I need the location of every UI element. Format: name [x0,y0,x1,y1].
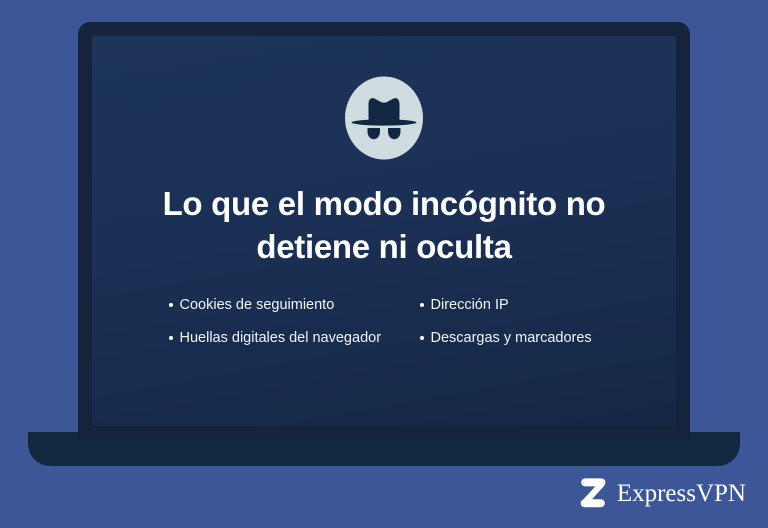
list-item-label: Cookies de seguimiento [180,296,394,315]
list-item-label: Descargas y marcadores [431,329,600,348]
bullet-dot-icon [420,303,424,307]
bullet-dot-icon [420,336,424,340]
list-item: Dirección IP [420,296,600,315]
bullet-column-left: Cookies de seguimiento Huellas digitales… [169,296,394,362]
expressvpn-logo: ExpressVPN [578,476,746,510]
list-item-label: Huellas digitales del navegador [180,329,394,348]
list-item: Descargas y marcadores [420,329,600,348]
list-item: Huellas digitales del navegador [169,329,394,348]
slide-canvas: Lo que el modo incógnito no detiene ni o… [0,0,768,528]
bullet-column-right: Dirección IP Descargas y marcadores [420,296,600,362]
list-item-label: Dirección IP [431,296,600,315]
bullet-dot-icon [169,303,173,307]
bullet-columns: Cookies de seguimiento Huellas digitales… [92,296,676,362]
accent-bar [108,34,589,54]
expressvpn-e-mark-icon [578,476,608,510]
page-title: Lo que el modo incógnito no detiene ni o… [114,182,654,268]
expressvpn-wordmark: ExpressVPN [617,481,746,506]
bullet-dot-icon [169,336,173,340]
incognito-icon [344,76,424,160]
list-item: Cookies de seguimiento [169,296,394,315]
